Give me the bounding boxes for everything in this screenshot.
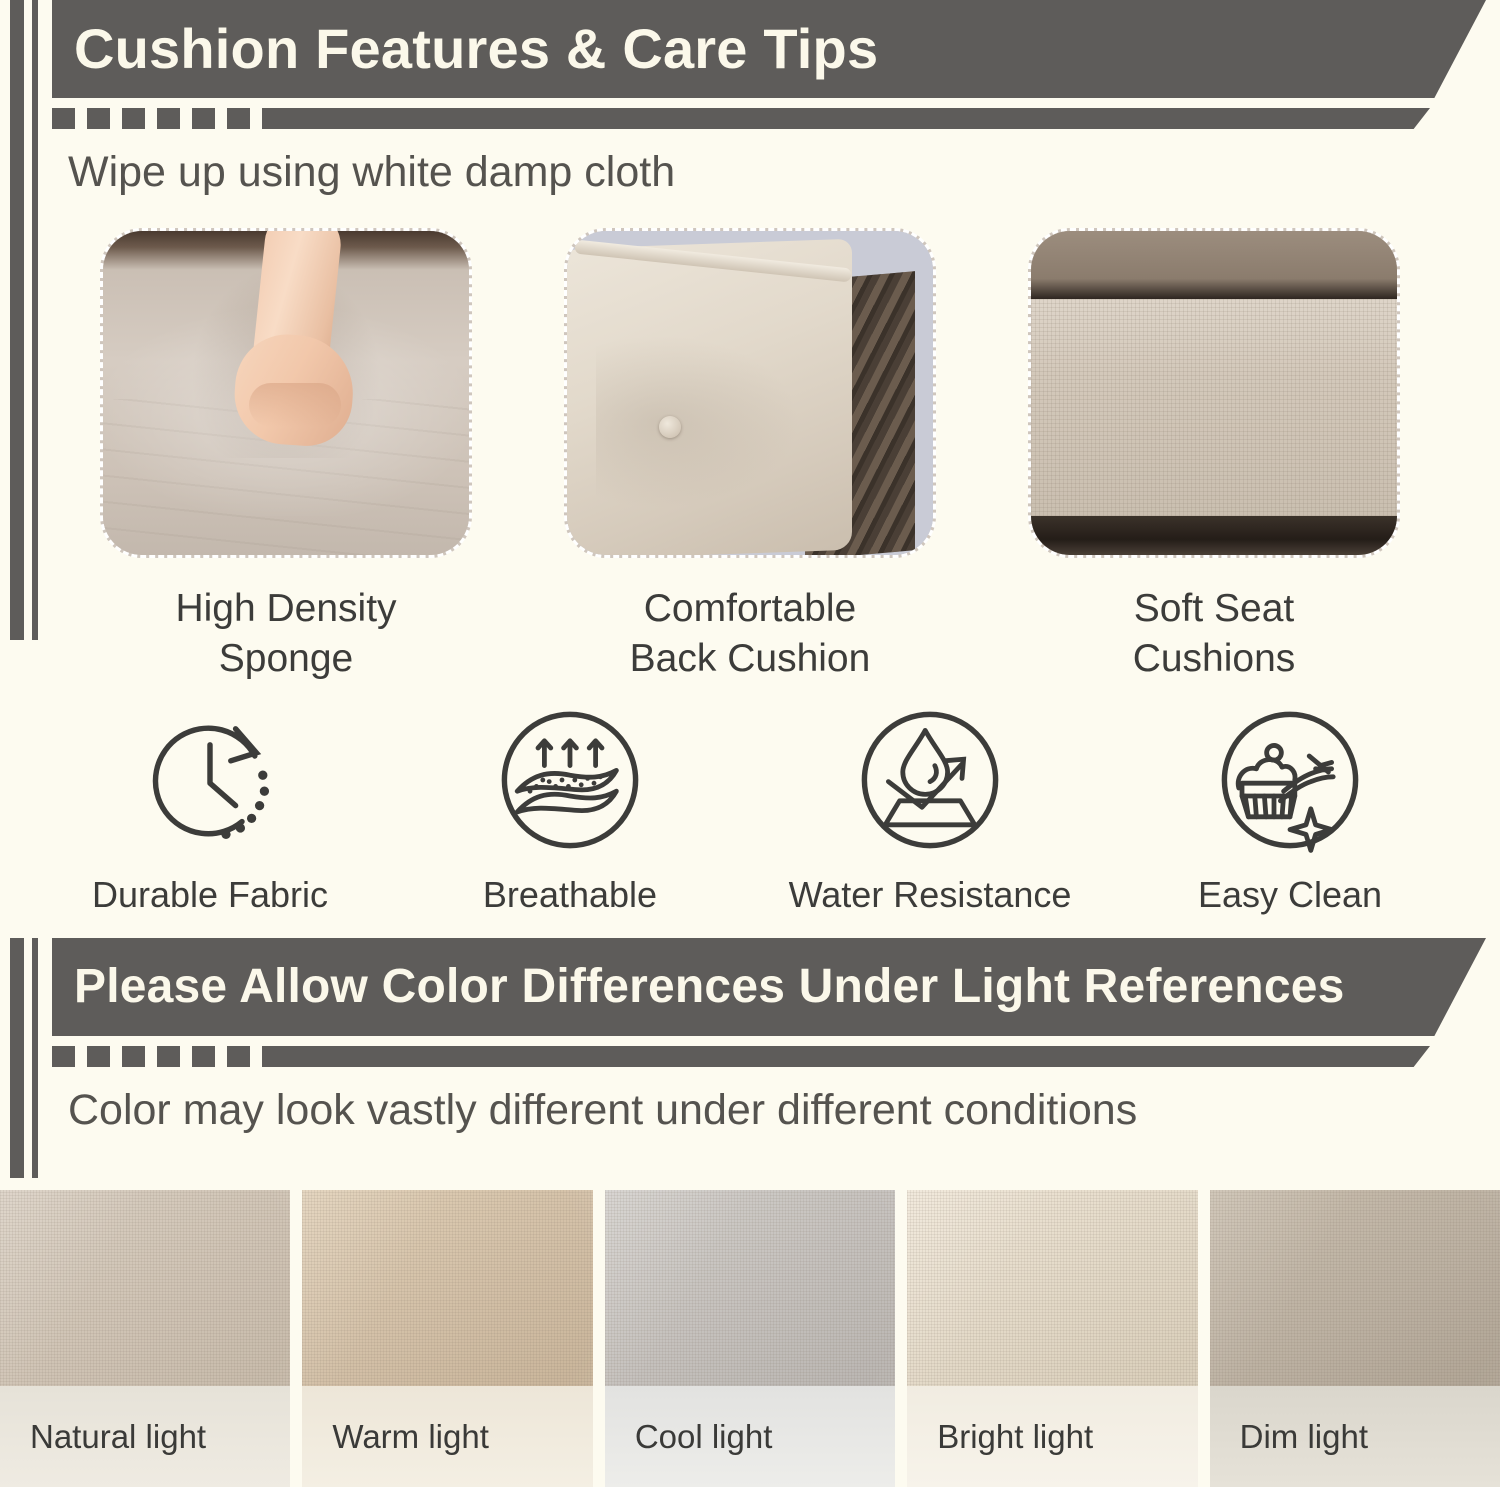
- divider-dash: [192, 1046, 215, 1067]
- brush-sparkle-icon: [1210, 700, 1370, 860]
- seat-cushion-closeup-photo: [1028, 228, 1400, 558]
- hand-pressing-cushion-photo: [100, 228, 472, 558]
- swatch-cool-light: Cool light: [605, 1190, 895, 1487]
- divider-dash: [52, 1046, 75, 1067]
- swatch-label: Warm light: [332, 1418, 488, 1456]
- feature-photo-card: High Density Sponge: [100, 228, 472, 684]
- feature-label: Easy Clean: [1198, 874, 1382, 916]
- divider-dash: [122, 108, 145, 129]
- divider-dash: [227, 1046, 250, 1067]
- swatch-label: Bright light: [937, 1418, 1093, 1456]
- banner-title: Cushion Features & Care Tips: [74, 21, 878, 77]
- banner-bar: Cushion Features & Care Tips: [52, 0, 1486, 98]
- swatch-dim-light: Dim light: [1210, 1190, 1500, 1487]
- feature-label: Water Resistance: [789, 874, 1072, 916]
- clock-arrow-icon: [130, 700, 290, 860]
- water-droplet-repel-icon: [850, 700, 1010, 860]
- section-subtitle-2: Color may look vastly different under di…: [68, 1086, 1137, 1135]
- divider-solid-bar: [262, 1046, 1430, 1067]
- feature-photo-row: High Density Sponge Comfortable Back Cus…: [0, 228, 1500, 684]
- color-swatch-row: Natural light Warm light Cool light Brig…: [0, 1190, 1500, 1487]
- feature-photo-card: Comfortable Back Cushion: [564, 228, 936, 684]
- section-subtitle-1: Wipe up using white damp cloth: [68, 148, 675, 197]
- divider-dash: [52, 108, 75, 129]
- feature-icon-row: Durable Fabric Breathable: [0, 700, 1500, 916]
- banner-title: Please Allow Color Differences Under Lig…: [74, 963, 1345, 1011]
- swatch-label: Dim light: [1240, 1418, 1368, 1456]
- divider-dash: [192, 108, 215, 129]
- swatch-label: Cool light: [635, 1418, 773, 1456]
- divider-dash: [157, 1046, 180, 1067]
- dashed-divider-1: [52, 108, 1486, 129]
- feature-item-breathable: Breathable: [445, 700, 695, 916]
- divider-dash: [227, 108, 250, 129]
- feature-label: Breathable: [483, 874, 657, 916]
- divider-dash: [87, 1046, 110, 1067]
- feature-item-durable-fabric: Durable Fabric: [85, 700, 335, 916]
- feature-label: Durable Fabric: [92, 874, 328, 916]
- banner-bar: Please Allow Color Differences Under Lig…: [52, 938, 1486, 1036]
- feature-item-water-resistance: Water Resistance: [805, 700, 1055, 916]
- divider-dash: [157, 108, 180, 129]
- divider-dash: [87, 108, 110, 129]
- section-banner-1: Cushion Features & Care Tips: [0, 0, 1500, 98]
- dashed-divider-2: [52, 1046, 1486, 1067]
- feature-item-easy-clean: Easy Clean: [1165, 700, 1415, 916]
- breathable-fabric-icon: [490, 700, 650, 860]
- photo-caption: Comfortable Back Cushion: [630, 584, 871, 684]
- feature-photo-card: Soft Seat Cushions: [1028, 228, 1400, 684]
- swatch-warm-light: Warm light: [302, 1190, 592, 1487]
- photo-caption: High Density Sponge: [175, 584, 396, 684]
- photo-caption: Soft Seat Cushions: [1133, 584, 1296, 684]
- divider-solid-bar: [262, 108, 1430, 129]
- divider-dash: [122, 1046, 145, 1067]
- section-banner-2: Please Allow Color Differences Under Lig…: [0, 938, 1500, 1036]
- swatch-label: Natural light: [30, 1418, 206, 1456]
- tufted-back-cushion-photo: [564, 228, 936, 558]
- swatch-natural-light: Natural light: [0, 1190, 290, 1487]
- swatch-bright-light: Bright light: [907, 1190, 1197, 1487]
